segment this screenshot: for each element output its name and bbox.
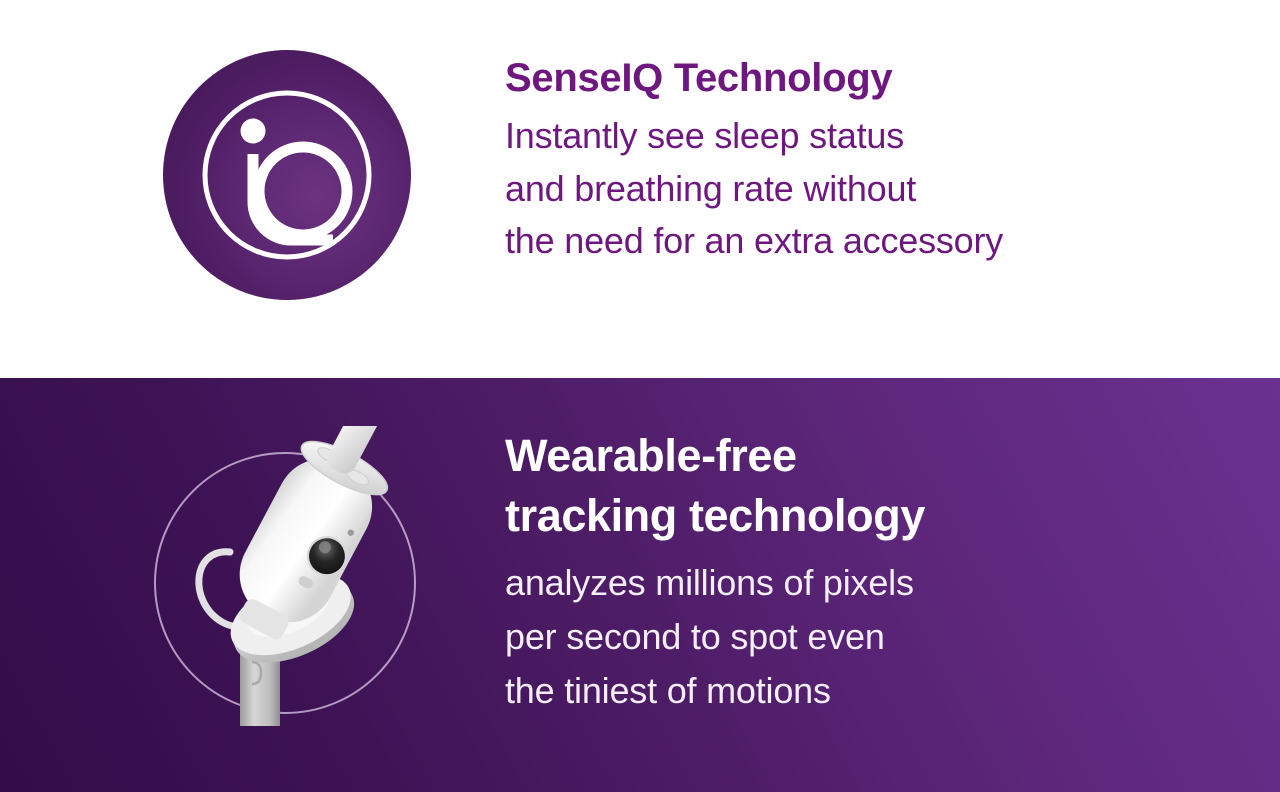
wearable-free-body-line-1: analyzes millions of pixels [505, 556, 1225, 610]
senseiq-body-line-1: Instantly see sleep status [505, 110, 1205, 163]
product-image-stage [154, 438, 420, 704]
feature-promo-card: SenseIQ Technology Instantly see sleep s… [0, 0, 1280, 792]
baby-monitor-camera-photo [144, 426, 434, 726]
senseiq-section: SenseIQ Technology Instantly see sleep s… [0, 0, 1280, 378]
wearable-free-body-line-2: per second to spot even [505, 610, 1225, 664]
senseiq-text-block: SenseIQ Technology Instantly see sleep s… [505, 58, 1205, 268]
wearable-free-body: analyzes millions of pixels per second t… [505, 556, 1225, 718]
senseiq-body-line-3: the need for an extra accessory [505, 215, 1205, 268]
wearable-free-headline-line-1: Wearable-free [505, 426, 1225, 486]
wearable-free-text-block: Wearable-free tracking technology analyz… [505, 426, 1225, 718]
wearable-free-headline-line-2: tracking technology [505, 486, 1225, 546]
wearable-free-body-line-3: the tiniest of motions [505, 664, 1225, 718]
senseiq-iq-monogram-icon [163, 50, 411, 300]
senseiq-body: Instantly see sleep status and breathing… [505, 110, 1205, 268]
wearable-free-headline: Wearable-free tracking technology [505, 426, 1225, 546]
senseiq-body-line-2: and breathing rate without [505, 163, 1205, 216]
wearable-free-section: Wearable-free tracking technology analyz… [0, 378, 1280, 792]
senseiq-headline: SenseIQ Technology [505, 58, 1205, 98]
senseiq-badge [163, 50, 411, 300]
